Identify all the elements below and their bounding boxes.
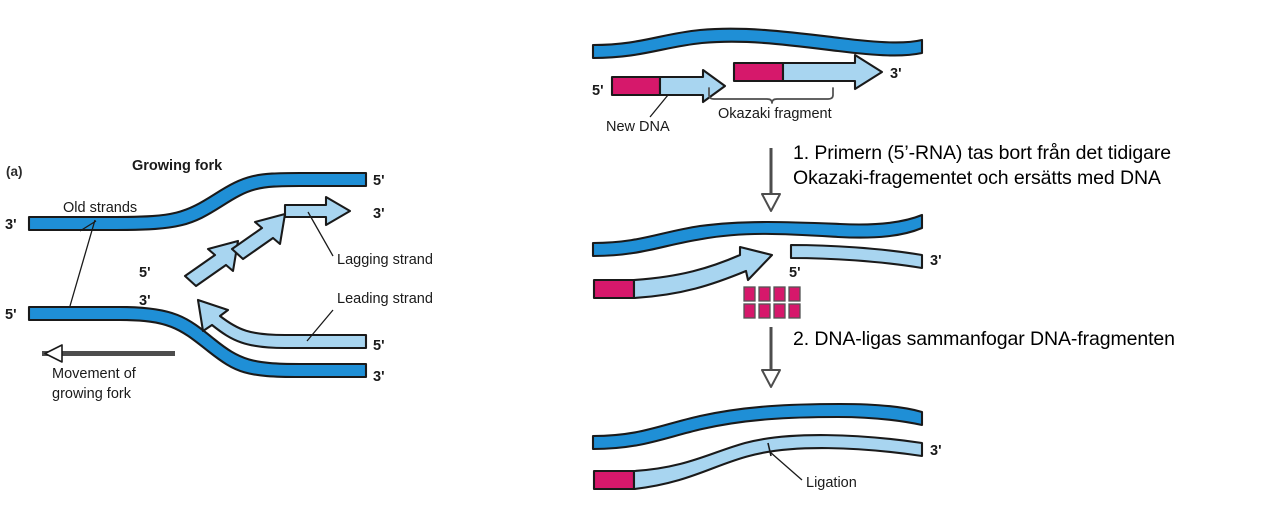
step-1-annotation: 1. Primern (5’-RNA) tas bort från det ti… — [793, 141, 1263, 191]
primer-block — [789, 287, 800, 301]
label-top-five-prime: 5' — [592, 83, 604, 99]
label-top-three-prime: 3' — [890, 66, 902, 82]
step-2-annotation: 2. DNA-ligas sammanfogar DNA-fragmenten — [793, 327, 1263, 352]
removed-primer-blocks — [744, 287, 800, 318]
primer-block — [759, 287, 770, 301]
lagging-strand-label: Lagging strand — [337, 252, 433, 268]
primer-block — [774, 287, 785, 301]
movement-label-line2: growing fork — [52, 386, 132, 402]
ligation-leader — [770, 452, 802, 480]
label-leading-new-right: 5' — [373, 338, 385, 354]
right-panel-stage-bottom: Ligation 3' — [593, 404, 942, 491]
label-fork-lower-three: 3' — [139, 293, 151, 309]
label-bottom-three-prime: 3' — [930, 443, 942, 459]
right-panel-stage-top: 5' 3' New DNA Okazaki fragment — [592, 29, 922, 135]
label-template-top-right: 5' — [373, 173, 385, 189]
dna-replication-diagram: (a) Growing fork Old strands Lagging str… — [0, 0, 1270, 522]
old-strands-label: Old strands — [63, 200, 137, 216]
okazaki-arrow-1 — [185, 241, 238, 286]
new-dna-label: New DNA — [606, 119, 670, 135]
step2-arrow-head — [762, 370, 780, 387]
right-panel-stage-middle: 5' 3' — [593, 215, 942, 318]
label-lagging-new-right: 3' — [373, 206, 385, 222]
primer-okazaki-top — [734, 63, 783, 81]
new-dna-arrow-left-top — [660, 70, 725, 102]
okazaki-arrow-2 — [232, 214, 285, 259]
primer-block — [744, 287, 755, 301]
step1-down-arrow — [762, 148, 780, 211]
okazaki-strand-middle — [791, 245, 922, 268]
left-panel-growing-fork: (a) Growing fork Old strands Lagging str… — [5, 158, 433, 402]
step2-down-arrow — [762, 327, 780, 387]
primer-left-top — [612, 77, 660, 95]
new-dna-leader — [650, 95, 668, 117]
ligation-label: Ligation — [806, 475, 857, 491]
primer-block — [774, 304, 785, 318]
label-fork-upper-five: 5' — [139, 265, 151, 281]
label-middle-five-prime: 5' — [789, 265, 801, 281]
step1-arrow-head — [762, 194, 780, 211]
movement-label-line1: Movement of — [52, 366, 137, 382]
okazaki-fragment-arrow-top — [783, 55, 882, 89]
template-strand-top — [593, 29, 922, 58]
primer-block — [789, 304, 800, 318]
primer-block — [759, 304, 770, 318]
leading-strand-arrow — [198, 300, 366, 348]
label-middle-three-prime: 3' — [930, 253, 942, 269]
primer-left-bottom — [594, 471, 634, 489]
leading-strand-label: Leading strand — [337, 291, 433, 307]
okazaki-fragment-label: Okazaki fragment — [718, 106, 832, 122]
okazaki-arrow-3 — [285, 197, 350, 225]
figure-canvas: (a) Growing fork Old strands Lagging str… — [0, 0, 1270, 522]
old-strands-leader-lower — [70, 220, 95, 306]
label-parent-bottom-left: 5' — [5, 307, 17, 323]
ligated-new-strand-bottom — [634, 435, 922, 489]
primer-left-middle — [594, 280, 634, 298]
okazaki-brace — [709, 88, 833, 103]
label-template-bottom-right: 3' — [373, 369, 385, 385]
movement-arrow-head — [45, 345, 62, 362]
primer-block — [744, 304, 755, 318]
label-parent-top-left: 3' — [5, 217, 17, 233]
panel-label: (a) — [6, 164, 23, 179]
panel-title: Growing fork — [132, 158, 223, 174]
